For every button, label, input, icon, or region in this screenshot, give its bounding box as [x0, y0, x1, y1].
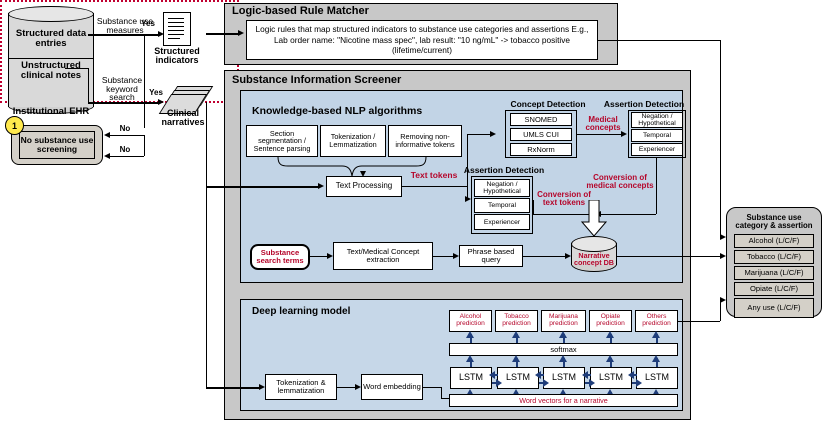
wire-db-unstructured	[65, 68, 89, 69]
concept-item-umls: UMLS CUI	[510, 128, 572, 141]
lstm-3-label: LSTM	[599, 373, 623, 382]
concept-extraction-box: Text/Medical Concept extraction	[333, 242, 433, 270]
output-item-4-label: Any use (L/C/F)	[747, 304, 800, 312]
db-structured-label: Structured data entries	[10, 26, 92, 52]
lstm-cell-2: LSTM	[543, 367, 585, 389]
assertion-mid-item-temporal: Temporal	[474, 198, 530, 213]
assertion-mid-2-label: Experiencer	[484, 219, 520, 226]
wire-medical-concepts	[577, 134, 621, 135]
nlp-step-1-label: Tokenization / Lemmatization	[322, 133, 384, 148]
wire-narratives-down	[206, 102, 207, 186]
output-item-any-use: Any use (L/C/F)	[734, 298, 814, 318]
nlp-title: Knowledge-based NLP algorithms	[252, 104, 462, 118]
lstm-1-label: LSTM	[506, 373, 530, 382]
lstm-cell-3: LSTM	[590, 367, 632, 389]
wire-no-2	[110, 156, 144, 157]
structured-indicators-icon	[163, 12, 191, 46]
edge-label-no-1: No	[116, 124, 134, 134]
text-processing-label: Text Processing	[336, 182, 392, 190]
assertion-mid-1-label: Temporal	[488, 202, 516, 209]
edge-label-yes-1: Yes	[138, 19, 158, 29]
wire-narratives-to-textproc	[206, 186, 318, 188]
softmax-label: softmax	[550, 346, 576, 354]
nlp-step-removing-tokens: Removing non-informative tokens	[388, 125, 462, 157]
assertion-right-item-negation: Negation / Hypothetical	[631, 112, 683, 128]
rule-matcher-title: Logic-based Rule Matcher	[232, 5, 432, 19]
wire-dl-to-output	[678, 321, 720, 322]
structured-indicators-label: Structured indicators	[148, 45, 206, 67]
concept-item-2-label: RxNorm	[527, 146, 555, 154]
prediction-1-label: Tobacco prediction	[496, 314, 537, 328]
lstm-cell-0: LSTM	[450, 367, 492, 389]
dl-tokenization-box: Tokenization & lemmatization	[265, 374, 337, 400]
nlp-step-2-label: Removing non-informative tokens	[390, 133, 460, 148]
medical-concepts-text: Medical concepts	[576, 116, 630, 132]
concept-item-snomed: SNOMED	[510, 113, 572, 126]
wire-no-branch-1	[144, 34, 145, 128]
assertion-mid-item-negation: Negation / Hypothetical	[474, 179, 530, 197]
assertion-detection-mid-title: Assertion Detection	[456, 164, 552, 176]
assertion-detection-right-title: Assertion Detection	[594, 98, 694, 110]
narrative-concept-db-label: Narrative concept DB	[571, 248, 617, 270]
assertion-right-item-experiencer: Experiencer	[631, 143, 683, 156]
prediction-4-label: Others prediction	[636, 314, 677, 328]
screener-title: Substance Information Screener	[232, 73, 482, 88]
diagram-canvas: Structured data entries Unstructured cli…	[0, 0, 827, 424]
lstm-2-label: LSTM	[552, 373, 576, 382]
output-item-opiate: Opiate (L/C/F)	[734, 282, 814, 296]
edge-label-yes-2: Yes	[146, 88, 166, 98]
output-title-text: Substance use category & assertion	[730, 214, 818, 230]
wire-assertion-right-down	[656, 158, 657, 214]
wire-db-to-structured	[88, 34, 160, 36]
concept-item-0-label: SNOMED	[525, 116, 558, 124]
phrase-based-query-box: Phrase based query	[459, 245, 523, 267]
word-vectors-label: Word vectors for a narrative	[519, 397, 608, 404]
assertion-mid-item-experiencer: Experiencer	[474, 214, 530, 230]
conversion-medical-concepts-label: Conversion of medical concepts	[586, 164, 654, 200]
no-screening-label: No substance use screening	[19, 131, 95, 159]
concept-item-rxnorm: RxNorm	[510, 143, 572, 156]
big-down-arrow	[581, 200, 607, 238]
assertion-right-0-label: Negation / Hypothetical	[633, 113, 681, 127]
conversion-medical-concepts-text: Conversion of medical concepts	[586, 174, 654, 190]
assertion-right-item-temporal: Temporal	[631, 129, 683, 142]
prediction-box-opiate: Opiate prediction	[589, 310, 632, 332]
prediction-0-label: Alcohol prediction	[450, 314, 491, 328]
clinical-narratives-icon	[163, 86, 203, 108]
lstm-4-label: LSTM	[645, 373, 669, 382]
wire-to-narratives	[88, 102, 160, 104]
nlp-step-tokenization: Tokenization / Lemmatization	[320, 125, 386, 157]
rule-matcher-body-text: Logic rules that map structured indicato…	[251, 24, 593, 55]
assertion-right-2-label: Experiencer	[639, 146, 675, 153]
output-item-marijuana: Marijuana (L/C/F)	[734, 266, 814, 280]
concept-detection-title: Concept Detection	[498, 98, 598, 110]
prediction-box-tobacco: Tobacco prediction	[495, 310, 538, 332]
phrase-based-query-label: Phrase based query	[460, 248, 522, 264]
substance-search-terms-label: Substance search terms	[252, 249, 308, 265]
edge-label-no-2: No	[116, 145, 134, 155]
wire-db-to-output	[617, 256, 720, 257]
prediction-2-label: Marijuana prediction	[542, 314, 585, 328]
rule-matcher-body-box: Logic rules that map structured indicato…	[246, 20, 598, 60]
prediction-3-label: Opiate prediction	[590, 314, 631, 328]
dl-title: Deep learning model	[252, 305, 392, 319]
text-processing-box: Text Processing	[326, 176, 402, 197]
output-item-1-label: Tobacco (L/C/F)	[747, 253, 801, 261]
wire-text-tokens	[402, 186, 467, 187]
dl-word-embedding-label: Word embedding	[363, 383, 421, 391]
output-item-0-label: Alcohol (L/C/F)	[749, 237, 800, 245]
dl-word-embedding-box: Word embedding	[361, 374, 423, 400]
text-tokens-label: Text tokens	[404, 169, 464, 181]
assertion-right-1-label: Temporal	[643, 132, 671, 139]
word-vectors-bar: Word vectors for a narrative	[449, 394, 678, 407]
nlp-step-0-label: Section segmentation / Sentence parsing	[248, 130, 316, 153]
output-item-2-label: Marijuana (L/C/F)	[744, 269, 803, 277]
output-item-alcohol: Alcohol (L/C/F)	[734, 234, 814, 248]
clinical-narratives-label: Clinical narratives	[156, 107, 210, 129]
prediction-box-alcohol: Alcohol prediction	[449, 310, 492, 332]
output-item-3-label: Opiate (L/C/F)	[750, 285, 798, 293]
step-marker-1: 1	[5, 116, 24, 135]
wire-rulematcher-out	[598, 40, 720, 41]
wire-no-1	[110, 135, 144, 136]
output-item-tobacco: Tobacco (L/C/F)	[734, 250, 814, 264]
lstm-cell-4: LSTM	[636, 367, 678, 389]
prediction-box-others: Others prediction	[635, 310, 678, 332]
nlp-step-section-segmentation: Section segmentation / Sentence parsing	[246, 125, 318, 157]
db-unstructured-label: Unstructured clinical notes	[10, 58, 92, 84]
lstm-0-label: LSTM	[459, 373, 483, 382]
wire-narratives-to-dl	[206, 186, 207, 387]
prediction-box-marijuana: Marijuana prediction	[541, 310, 586, 332]
wire-no-branch-2	[144, 135, 145, 156]
output-title: Substance use category & assertion	[730, 211, 818, 233]
wire-db-branch-down	[88, 68, 89, 102]
edge-label-substance-keyword-search: Substance keyword search	[93, 72, 151, 106]
substance-search-terms-box: Substance search terms	[250, 244, 310, 270]
lstm-cell-1: LSTM	[497, 367, 539, 389]
concept-extraction-label: Text/Medical Concept extraction	[334, 248, 432, 264]
dl-tokenization-label: Tokenization & lemmatization	[266, 379, 336, 395]
concept-item-1-label: UMLS CUI	[523, 131, 559, 139]
assertion-mid-0-label: Negation / Hypothetical	[476, 181, 528, 195]
